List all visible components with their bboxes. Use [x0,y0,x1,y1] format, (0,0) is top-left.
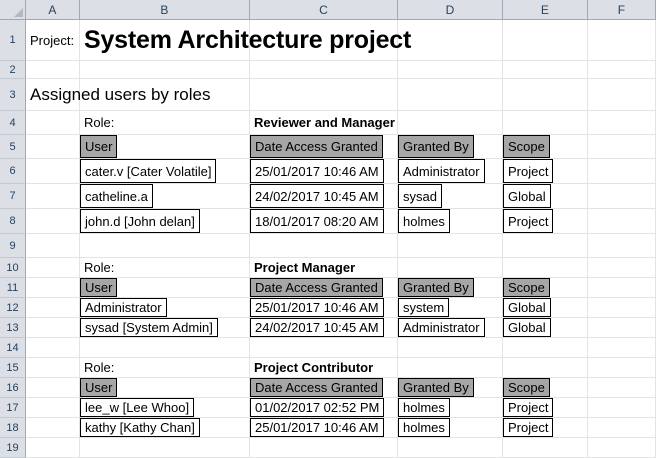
table-0-data-0-text-0: cater.v [Cater Volatile] [85,164,211,179]
table-2-data-0-text-1: 01/02/2017 02:52 PM [255,400,379,415]
table-1-data-0-cell-2[interactable]: system [398,298,503,317]
table-2-header-text-0: User [85,380,112,395]
table-column-header: Scope [503,378,550,397]
table-1-header-text-0: User [85,280,112,295]
table-data-cell: Project [503,209,553,233]
project-title[interactable]: System Architecture project [80,20,250,60]
cell-F4[interactable] [588,111,656,134]
cell-F16[interactable] [588,378,656,397]
row-header-12[interactable]: 12 [0,298,26,318]
cell-A18[interactable] [26,418,80,437]
table-0-data-0-text-1: 25/01/2017 10:46 AM [255,164,379,179]
table-1-data-1-cell-1[interactable]: 24/02/2017 10:45 AM [250,318,398,337]
role-name-1[interactable]: Project Manager [250,258,398,277]
table-0-header-cell-3[interactable]: Scope [503,135,588,158]
cell-A8[interactable] [26,209,80,233]
table-0-data-1-text-0: catheline.a [85,189,148,204]
table-column-header: User [80,378,117,397]
cell-A15[interactable] [26,358,80,377]
table-1-data-1-cell-0[interactable]: sysad [System Admin] [80,318,250,337]
row-header-11[interactable]: 11 [0,278,26,298]
cell-B9[interactable] [80,234,250,257]
role-name-2[interactable]: Project Contributor [250,358,398,377]
table-data-cell: Project [503,398,553,417]
cell-F9[interactable] [588,234,656,257]
table-0-data-0-row[interactable]: cater.v [Cater Volatile]25/01/2017 10:46… [26,159,656,184]
table-2-data-0-cell-1[interactable]: 01/02/2017 02:52 PM [250,398,398,417]
table-data-cell: sysad [398,184,442,208]
table-1-data-0-text-1: 25/01/2017 10:46 AM [255,300,379,315]
row-header-9[interactable]: 9 [0,234,26,258]
table-2-data-0-text-3: Project [508,400,548,415]
table-data-cell: holmes [398,209,450,233]
table-data-cell: Global [503,318,551,337]
table-data-cell: lee_w [Lee Whoo] [80,398,194,417]
row-header-19[interactable]: 19 [0,438,26,458]
table-data-cell: 25/01/2017 10:46 AM [250,418,384,437]
cell-D3[interactable] [398,79,503,110]
project-label-text: Project: [30,33,74,48]
spreadsheet-row-14[interactable] [26,338,656,358]
cell-E1[interactable] [503,20,588,60]
column-header-a[interactable]: A [26,0,80,20]
table-2-header-cell-3[interactable]: Scope [503,378,588,397]
cell-D10[interactable] [398,258,503,277]
cell-D9[interactable] [398,234,503,257]
table-2-header-cell-1[interactable]: Date Access Granted [250,378,398,397]
cell-C3[interactable] [250,79,398,110]
table-0-data-1-cell-3[interactable]: Global [503,184,588,208]
table-0-data-2-text-0: john.d [John delan] [85,214,195,229]
cell-A6[interactable] [26,159,80,183]
table-column-header: Date Access Granted [250,135,383,158]
table-1-data-1-row[interactable]: sysad [System Admin]24/02/2017 10:45 AMA… [26,318,656,338]
table-data-cell: 24/02/2017 10:45 AM [250,184,384,208]
spreadsheet-row-4[interactable]: Role:Reviewer and Manager [26,111,656,135]
row-header-5[interactable]: 5 [0,135,26,159]
row-header-16[interactable]: 16 [0,378,26,398]
table-2-data-1-text-0: kathy [Kathy Chan] [85,420,195,435]
table-column-header: Date Access Granted [250,278,383,297]
role-name-0[interactable]: Reviewer and Manager [250,111,398,134]
table-1-header-cell-1[interactable]: Date Access Granted [250,278,398,297]
spreadsheet-row-3[interactable]: Assigned users by roles [26,79,656,111]
role-label-0[interactable]: Role: [80,111,250,134]
section-heading[interactable]: Assigned users by roles [26,79,80,110]
role-label-1[interactable]: Role: [80,258,250,277]
cell-A12[interactable] [26,298,80,317]
cell-F5[interactable] [588,135,656,158]
cell-F17[interactable] [588,398,656,417]
table-data-cell: sysad [System Admin] [80,318,218,337]
table-1-data-1-text-3: Global [508,320,546,335]
column-header-bar: A B C D E F [0,0,656,20]
column-header-b[interactable]: B [80,0,250,20]
table-data-cell: Administrator [80,298,167,317]
spreadsheet-row-1[interactable]: Project:System Architecture project [26,20,656,61]
table-2-header-text-1: Date Access Granted [255,380,378,395]
table-1-header-text-3: Scope [508,280,545,295]
column-header-e[interactable]: E [503,0,588,20]
row-header-1[interactable]: 1 [0,20,26,61]
cell-F6[interactable] [588,159,656,183]
cell-F11[interactable] [588,278,656,297]
table-0-data-2-text-1: 18/01/2017 08:20 AM [255,214,379,229]
table-1-data-0-row[interactable]: Administrator25/01/2017 10:46 AMsystemGl… [26,298,656,318]
cell-B2[interactable] [80,61,250,78]
row-header-3[interactable]: 3 [0,79,26,111]
cell-D2[interactable] [398,61,503,78]
row-header-2[interactable]: 2 [0,61,26,79]
cell-E9[interactable] [503,234,588,257]
row-header-17[interactable]: 17 [0,398,26,418]
cell-D4[interactable] [398,111,503,134]
table-2-data-1-text-3: Project [508,420,548,435]
cell-F15[interactable] [588,358,656,377]
table-data-cell: Global [503,184,551,208]
cell-E15[interactable] [503,358,588,377]
column-header-d[interactable]: D [398,0,503,20]
table-0-data-0-text-3: Project [508,164,548,179]
table-2-data-0-text-0: lee_w [Lee Whoo] [85,400,189,415]
table-2-header-text-2: Granted By [403,380,469,395]
table-0-header-cell-1[interactable]: Date Access Granted [250,135,398,158]
cell-D14[interactable] [398,338,503,357]
table-0-data-1-row[interactable]: catheline.a24/02/2017 10:45 AMsysadGloba… [26,184,656,209]
cell-A2[interactable] [26,61,80,78]
table-0-header-text-3: Scope [508,139,545,154]
table-2-data-0-cell-3[interactable]: Project [503,398,588,417]
role-label-2-text: Role: [84,360,114,375]
table-1-data-0-text-3: Global [508,300,546,315]
cell-E10[interactable] [503,258,588,277]
cell-F3[interactable] [588,79,656,110]
cell-A11[interactable] [26,278,80,297]
cell-E19[interactable] [503,438,588,457]
table-0-data-0-text-2: Administrator [403,164,480,179]
table-2-data-1-cell-3[interactable]: Project [503,418,588,437]
table-data-cell: cater.v [Cater Volatile] [80,159,216,183]
cell-E4[interactable] [503,111,588,134]
select-all-corner-icon[interactable] [0,0,26,20]
table-column-header: Date Access Granted [250,378,383,397]
role-name-0-text: Reviewer and Manager [254,115,395,130]
table-0-data-1-text-3: Global [508,189,546,204]
spreadsheet-row-19[interactable] [26,438,656,458]
table-1-data-1-cell-3[interactable]: Global [503,318,588,337]
cell-A4[interactable] [26,111,80,134]
cell-E3[interactable] [503,79,588,110]
table-2-data-0-cell-2[interactable]: holmes [398,398,503,417]
table-0-header-cell-2[interactable]: Granted By [398,135,503,158]
cell-F18[interactable] [588,418,656,437]
cell-C14[interactable] [250,338,398,357]
table-2-data-1-cell-1[interactable]: 25/01/2017 10:46 AM [250,418,398,437]
column-header-f[interactable]: F [588,0,656,20]
cell-A5[interactable] [26,135,80,158]
table-1-header-text-1: Date Access Granted [255,280,378,295]
table-data-cell: 24/02/2017 10:45 AM [250,318,384,337]
table-1-data-0-text-2: system [403,300,444,315]
table-data-cell: 18/01/2017 08:20 AM [250,209,384,233]
cell-A14[interactable] [26,338,80,357]
role-label-1-text: Role: [84,260,114,275]
table-0-data-2-cell-0[interactable]: john.d [John delan] [80,209,250,233]
spreadsheet-row-9[interactable] [26,234,656,258]
cell-F10[interactable] [588,258,656,277]
role-name-1-text: Project Manager [254,260,355,275]
table-1-data-1-text-2: Administrator [403,320,480,335]
table-2-data-1-text-2: holmes [403,420,445,435]
cell-F1[interactable] [588,20,656,60]
table-1-header-cell-2[interactable]: Granted By [398,278,503,297]
table-2-data-0-text-2: holmes [403,400,445,415]
table-0-data-0-cell-2[interactable]: Administrator [398,159,503,183]
table-2-data-1-text-1: 25/01/2017 10:46 AM [255,420,379,435]
cell-A16[interactable] [26,378,80,397]
row-header-bar: 12345678910111213141516171819 [0,20,26,458]
cell-D19[interactable] [398,438,503,457]
row-header-14[interactable]: 14 [0,338,26,358]
table-column-header: Scope [503,135,550,158]
cell-F7[interactable] [588,184,656,208]
cell-D15[interactable] [398,358,503,377]
table-2-header-row[interactable]: UserDate Access GrantedGranted ByScope [26,378,656,398]
row-header-4[interactable]: 4 [0,111,26,135]
table-data-cell: Global [503,298,551,317]
table-1-data-0-cell-3[interactable]: Global [503,298,588,317]
project-title-text: System Architecture project [84,26,411,55]
table-data-cell: system [398,298,449,317]
row-header-7[interactable]: 7 [0,184,26,209]
table-0-header-cell-0[interactable]: User [80,135,250,158]
cell-F14[interactable] [588,338,656,357]
cell-A13[interactable] [26,318,80,337]
cell-F12[interactable] [588,298,656,317]
table-data-cell: holmes [398,398,450,417]
row-header-18[interactable]: 18 [0,418,26,438]
table-data-cell: kathy [Kathy Chan] [80,418,200,437]
table-0-data-2-row[interactable]: john.d [John delan]18/01/2017 08:20 AMho… [26,209,656,234]
table-1-header-cell-0[interactable]: User [80,278,250,297]
cell-F13[interactable] [588,318,656,337]
project-label[interactable]: Project: [26,20,80,60]
row-header-15[interactable]: 15 [0,358,26,378]
table-data-cell: catheline.a [80,184,153,208]
table-0-data-1-cell-0[interactable]: catheline.a [80,184,250,208]
grid-body[interactable]: Project:System Architecture projectAssig… [26,20,656,458]
table-2-header-text-3: Scope [508,380,545,395]
table-2-data-0-row[interactable]: lee_w [Lee Whoo]01/02/2017 02:52 PMholme… [26,398,656,418]
table-data-cell: 01/02/2017 02:52 PM [250,398,384,417]
cell-B14[interactable] [80,338,250,357]
cell-C9[interactable] [250,234,398,257]
table-column-header: Granted By [398,278,474,297]
table-column-header: Granted By [398,378,474,397]
role-label-0-text: Role: [84,115,114,130]
table-1-data-0-text-0: Administrator [85,300,162,315]
table-1-header-text-2: Granted By [403,280,469,295]
table-data-cell: Project [503,159,553,183]
cell-C2[interactable] [250,61,398,78]
table-0-data-2-cell-2[interactable]: holmes [398,209,503,233]
table-column-header: Granted By [398,135,474,158]
cell-E2[interactable] [503,61,588,78]
table-data-cell: john.d [John delan] [80,209,200,233]
table-1-data-0-cell-1[interactable]: 25/01/2017 10:46 AM [250,298,398,317]
spreadsheet-grid[interactable]: A B C D E F 1234567891011121314151617181… [0,0,656,458]
table-0-data-2-text-2: holmes [403,214,445,229]
table-data-cell: Project [503,418,553,437]
cell-C19[interactable] [250,438,398,457]
cell-E14[interactable] [503,338,588,357]
cell-F8[interactable] [588,209,656,233]
cell-A9[interactable] [26,234,80,257]
table-2-data-1-row[interactable]: kathy [Kathy Chan]25/01/2017 10:46 AMhol… [26,418,656,438]
table-0-header-text-0: User [85,139,112,154]
table-data-cell: Administrator [398,318,485,337]
table-0-data-1-cell-1[interactable]: 24/02/2017 10:45 AM [250,184,398,208]
table-2-data-1-cell-2[interactable]: holmes [398,418,503,437]
row-header-13[interactable]: 13 [0,318,26,338]
table-1-data-0-cell-0[interactable]: Administrator [80,298,250,317]
table-1-data-1-cell-2[interactable]: Administrator [398,318,503,337]
table-1-data-1-text-1: 24/02/2017 10:45 AM [255,320,379,335]
cell-B19[interactable] [80,438,250,457]
table-0-header-text-2: Granted By [403,139,469,154]
table-0-data-1-text-2: sysad [403,189,437,204]
table-1-header-cell-3[interactable]: Scope [503,278,588,297]
cell-F19[interactable] [588,438,656,457]
table-column-header: User [80,135,117,158]
table-0-header-row[interactable]: UserDate Access GrantedGranted ByScope [26,135,656,159]
table-2-header-cell-2[interactable]: Granted By [398,378,503,397]
table-column-header: Scope [503,278,550,297]
select-all-triangle-icon [14,8,23,17]
role-label-2[interactable]: Role: [80,358,250,377]
table-1-data-1-text-0: sysad [System Admin] [85,320,213,335]
row-header-10[interactable]: 10 [0,258,26,278]
cell-A10[interactable] [26,258,80,277]
table-0-data-1-cell-2[interactable]: sysad [398,184,503,208]
spreadsheet-row-2[interactable] [26,61,656,79]
table-2-data-0-cell-0[interactable]: lee_w [Lee Whoo] [80,398,250,417]
table-data-cell: Administrator [398,159,485,183]
table-data-cell: 25/01/2017 10:46 AM [250,159,384,183]
section-heading-text: Assigned users by roles [30,85,210,105]
row-header-6[interactable]: 6 [0,159,26,184]
spreadsheet-row-10[interactable]: Role:Project Manager [26,258,656,278]
cell-F2[interactable] [588,61,656,78]
table-column-header: User [80,278,117,297]
column-header-c[interactable]: C [250,0,398,20]
table-0-data-1-text-1: 24/02/2017 10:45 AM [255,189,379,204]
cell-A19[interactable] [26,438,80,457]
row-header-8[interactable]: 8 [0,209,26,234]
table-data-cell: holmes [398,418,450,437]
table-0-data-0-cell-1[interactable]: 25/01/2017 10:46 AM [250,159,398,183]
table-data-cell: 25/01/2017 10:46 AM [250,298,384,317]
cell-D1[interactable] [398,20,503,60]
table-0-data-2-cell-3[interactable]: Project [503,209,588,233]
table-0-data-0-cell-3[interactable]: Project [503,159,588,183]
table-0-data-2-cell-1[interactable]: 18/01/2017 08:20 AM [250,209,398,233]
table-2-header-cell-0[interactable]: User [80,378,250,397]
table-0-header-text-1: Date Access Granted [255,139,378,154]
table-0-data-0-cell-0[interactable]: cater.v [Cater Volatile] [80,159,250,183]
table-2-data-1-cell-0[interactable]: kathy [Kathy Chan] [80,418,250,437]
cell-A17[interactable] [26,398,80,417]
cell-A7[interactable] [26,184,80,208]
table-1-header-row[interactable]: UserDate Access GrantedGranted ByScope [26,278,656,298]
spreadsheet-row-15[interactable]: Role:Project Contributor [26,358,656,378]
table-0-data-2-text-3: Project [508,214,548,229]
role-name-2-text: Project Contributor [254,360,373,375]
